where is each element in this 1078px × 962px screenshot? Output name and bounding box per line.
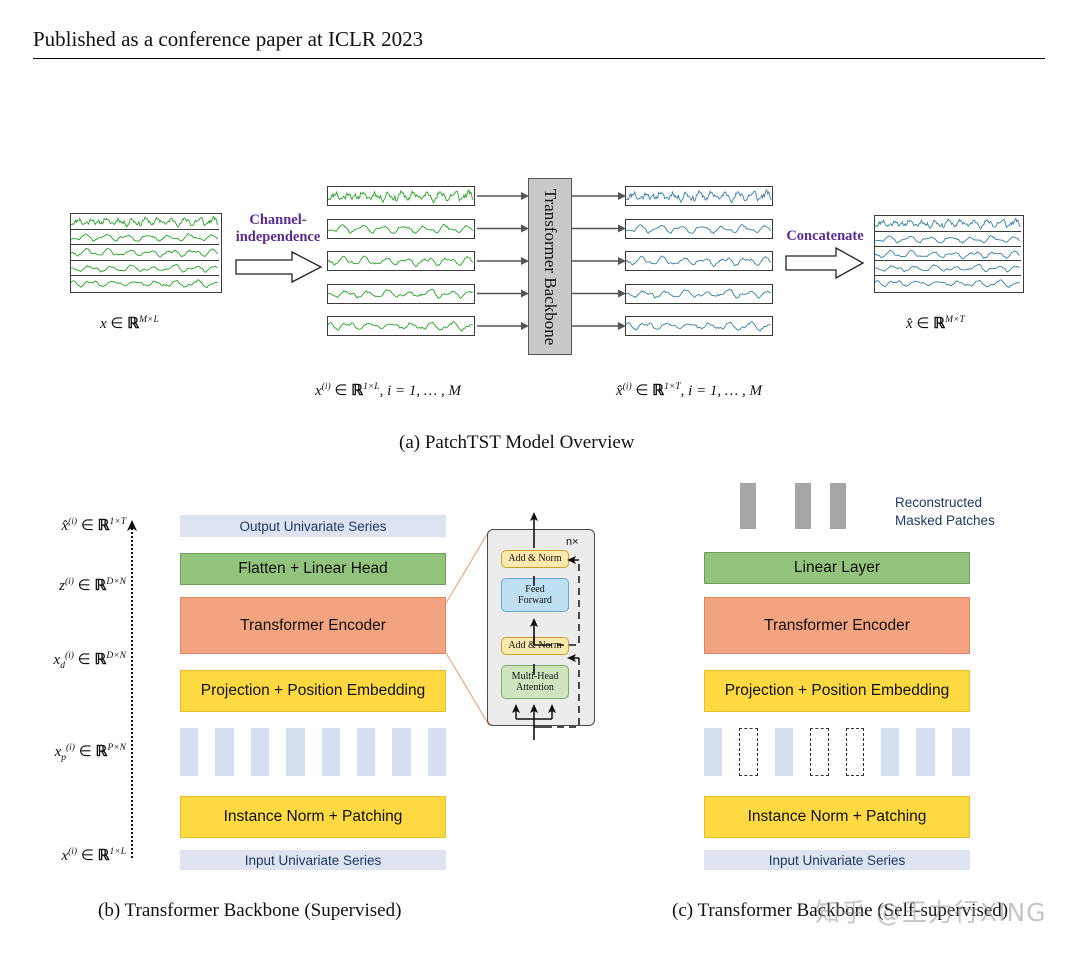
axis-math-label: z(i) ∈ ℝD×N xyxy=(36,576,126,595)
watermark: 知乎 @王力行XING xyxy=(815,893,1047,929)
math-var: x xyxy=(100,316,107,332)
patch-bar xyxy=(916,728,934,776)
math-in: ∈ xyxy=(110,316,123,332)
math-dims: D×N xyxy=(106,577,126,587)
block-transformer-encoder: Transformer Encoder xyxy=(180,597,446,654)
math-var: x̂ xyxy=(906,316,913,332)
math-sup: (i) xyxy=(66,743,75,753)
concatenate-label: Concatenate xyxy=(782,228,868,245)
channel-independence-label: Channel- independence xyxy=(232,212,324,246)
panel-c-block-stack: Linear LayerTransformer EncoderProjectio… xyxy=(704,552,970,870)
math-in: ∈ xyxy=(334,383,347,399)
masked-patch xyxy=(810,728,828,776)
math-var: x̂ xyxy=(616,383,623,399)
math-dims: M×T xyxy=(945,315,965,325)
output-math-label: x̂ ∈ ℝM×T xyxy=(906,314,965,333)
patch-bar xyxy=(357,728,375,776)
math-sup: (i) xyxy=(65,577,74,587)
panel-b-caption: (b) Transformer Backbone (Supervised) xyxy=(98,900,401,922)
math-space: ℝ xyxy=(95,578,107,594)
reconstructed-label-line1: Reconstructed xyxy=(895,494,1045,512)
patch-bar xyxy=(952,728,970,776)
math-sup: (i) xyxy=(322,382,331,392)
transformer-backbone-label: Transformer Backbone xyxy=(540,188,560,345)
block-instance-norm-patching: Instance Norm + Patching xyxy=(180,796,446,838)
patch-bar xyxy=(215,728,233,776)
math-in: ∈ xyxy=(78,578,91,594)
masked-patch xyxy=(739,728,757,776)
patch-bar xyxy=(322,728,340,776)
patch-bar xyxy=(881,728,899,776)
panel-b-dimension-axis xyxy=(131,528,133,858)
block-input-univariate-series: Input Univariate Series xyxy=(704,850,970,870)
math-sup: (i) xyxy=(623,382,632,392)
reconstructed-masked-patches-label: Reconstructed Masked Patches xyxy=(895,494,1045,530)
multivariate-output-series xyxy=(874,215,1024,293)
patch-bar xyxy=(180,728,198,776)
reconstructed-bar xyxy=(795,483,811,529)
math-sup: (i) xyxy=(65,651,74,661)
math-dims: 1×L xyxy=(110,847,126,857)
block-linear-layer: Linear Layer xyxy=(704,552,970,584)
math-space: ℝ xyxy=(96,744,108,760)
math-space: ℝ xyxy=(652,383,664,399)
math-in: ∈ xyxy=(635,383,648,399)
reconstructed-bar xyxy=(830,483,846,529)
math-space: ℝ xyxy=(98,848,110,864)
reconstructed-label-line2: Masked Patches xyxy=(895,512,1045,530)
axis-math-label: x(i) ∈ ℝ1×L xyxy=(36,846,126,865)
math-space: ℝ xyxy=(95,652,107,668)
page-header: Published as a conference paper at ICLR … xyxy=(33,27,423,52)
math-space: ℝ xyxy=(127,316,139,332)
encoder-detail-connectors xyxy=(444,525,492,735)
input-math-label: x ∈ ℝM×L xyxy=(100,314,159,333)
math-dims: 1×T xyxy=(664,382,680,392)
patch-bar xyxy=(428,728,446,776)
math-sub: d xyxy=(60,661,65,671)
axis-math-label: xd(i) ∈ ℝD×N xyxy=(36,650,126,671)
math-range: , i = 1, … , M xyxy=(380,383,461,399)
math-in: ∈ xyxy=(916,316,929,332)
univariate-output-math-label: x̂(i) ∈ ℝ1×T, i = 1, … , M xyxy=(616,381,762,400)
math-in: ∈ xyxy=(79,744,92,760)
univariate-output-series-group xyxy=(625,186,775,336)
reconstructed-masked-patch-bars xyxy=(740,483,860,529)
math-dims: P×N xyxy=(107,743,126,753)
block-flatten-linear-head: Flatten + Linear Head xyxy=(180,553,446,585)
block-projection-position-embedding: Projection + Position Embedding xyxy=(704,670,970,712)
reconstructed-bar xyxy=(740,483,756,529)
axis-math-label: x̂(i) ∈ ℝ1×T xyxy=(36,516,126,535)
math-in: ∈ xyxy=(81,848,94,864)
header-rule xyxy=(33,58,1045,59)
univariate-input-series-group xyxy=(327,186,477,336)
block-output-univariate-series: Output Univariate Series xyxy=(180,515,446,537)
patch-bar xyxy=(392,728,410,776)
math-var: x xyxy=(315,383,322,399)
math-dims: D×N xyxy=(106,651,126,661)
patch-bar xyxy=(775,728,793,776)
concatenate-arrow xyxy=(784,246,866,280)
panel-b-axis-arrowhead xyxy=(125,520,139,539)
block-instance-norm-patching: Instance Norm + Patching xyxy=(704,796,970,838)
math-sub: p xyxy=(61,753,66,763)
panel-b-block-stack: Output Univariate SeriesFlatten + Linear… xyxy=(180,515,446,870)
masked-patch xyxy=(846,728,864,776)
multivariate-input-series xyxy=(70,213,222,293)
block-projection-position-embedding: Projection + Position Embedding xyxy=(180,670,446,712)
math-in: ∈ xyxy=(78,652,91,668)
encoder-detail-arrows xyxy=(487,512,597,747)
input-to-backbone-arrows xyxy=(477,186,529,336)
math-space: ℝ xyxy=(351,383,363,399)
math-space: ℝ xyxy=(98,518,110,534)
math-sup: (i) xyxy=(68,517,77,527)
math-dims: M×L xyxy=(139,315,159,325)
univariate-input-math-label: x(i) ∈ ℝ1×L, i = 1, … , M xyxy=(315,381,461,400)
patch-bar xyxy=(251,728,269,776)
patch-bar xyxy=(704,728,722,776)
channel-independence-line2: independence xyxy=(232,229,324,246)
block-input-univariate-series: Input Univariate Series xyxy=(180,850,446,870)
block-transformer-encoder: Transformer Encoder xyxy=(704,597,970,654)
backbone-to-output-arrows xyxy=(572,186,626,336)
channel-independence-line1: Channel- xyxy=(232,212,324,229)
math-sup: (i) xyxy=(68,847,77,857)
math-dims: 1×T xyxy=(110,517,126,527)
channel-independence-arrow xyxy=(234,250,324,284)
math-in: ∈ xyxy=(81,518,94,534)
transformer-backbone-box: Transformer Backbone xyxy=(528,178,572,355)
patch-bar xyxy=(286,728,304,776)
math-dims: 1×L xyxy=(363,382,379,392)
math-space: ℝ xyxy=(933,316,945,332)
panel-a-caption: (a) PatchTST Model Overview xyxy=(399,432,635,454)
axis-math-label: xp(i) ∈ ℝP×N xyxy=(36,742,126,763)
math-range: , i = 1, … , M xyxy=(681,383,762,399)
